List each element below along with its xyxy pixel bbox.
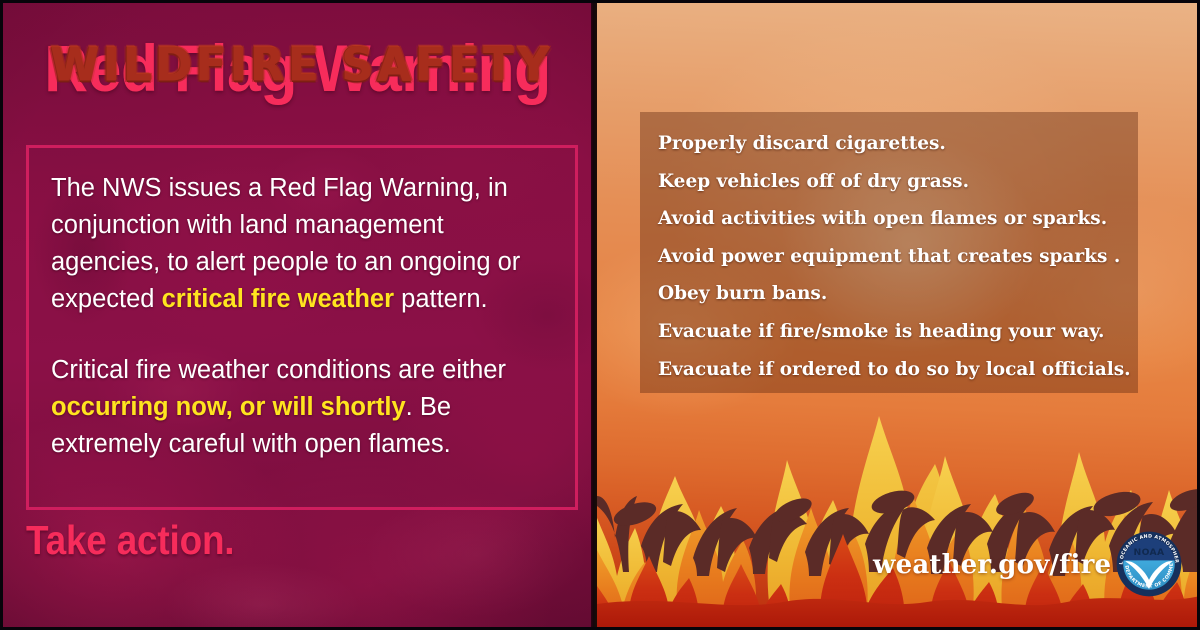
conditions-text-lead: Critical fire weather conditions are eit… <box>51 356 506 384</box>
noaa-wordmark: NOAA <box>1134 547 1165 558</box>
call-to-action-text: Take action. <box>26 520 234 561</box>
list-item: Avoid activities with open flames or spa… <box>658 200 1122 238</box>
wildfire-safety-title-text: WILDFIRE SAFETY <box>50 43 553 89</box>
safety-tips-box: Properly discard cigarettes. Keep vehicl… <box>640 112 1138 393</box>
frame-edge-top <box>0 0 1200 3</box>
definition-text-tail: pattern. <box>394 285 488 313</box>
definition-highlight: critical fire weather <box>162 285 394 313</box>
panel-divider <box>591 0 597 630</box>
list-item: Evacuate if fire/smoke is heading your w… <box>658 313 1122 351</box>
list-item: Properly discard cigarettes. <box>658 125 1122 163</box>
list-item: Keep vehicles off of dry grass. <box>658 163 1122 201</box>
warning-definition-box: The NWS issues a Red Flag Warning, in co… <box>26 145 578 510</box>
frame-edge-left <box>0 0 3 630</box>
noaa-logo: NATIONAL OCEANIC AND ATMOSPHERIC ADMIN U… <box>1116 531 1182 597</box>
wildfire-safety-title: WILDFIRE SAFETY <box>0 44 603 88</box>
weather-gov-url[interactable]: weather.gov/fire <box>873 552 1111 578</box>
red-flag-warning-panel: Red Flag Warning The NWS issues a Red Fl… <box>0 0 595 630</box>
list-item: Evacuate if ordered to do so by local of… <box>658 351 1122 389</box>
list-item: Obey burn bans. <box>658 275 1122 313</box>
warning-definition-content: The NWS issues a Red Flag Warning, in co… <box>29 148 575 463</box>
conditions-highlight: occurring now, or will shortly <box>51 393 406 421</box>
definition-paragraph: The NWS issues a Red Flag Warning, in co… <box>51 170 555 318</box>
red-flag-warning-infographic: Red Flag Warning The NWS issues a Red Fl… <box>0 0 1200 630</box>
list-item: Avoid power equipment that creates spark… <box>658 238 1122 276</box>
conditions-paragraph: Critical fire weather conditions are eit… <box>51 352 555 463</box>
